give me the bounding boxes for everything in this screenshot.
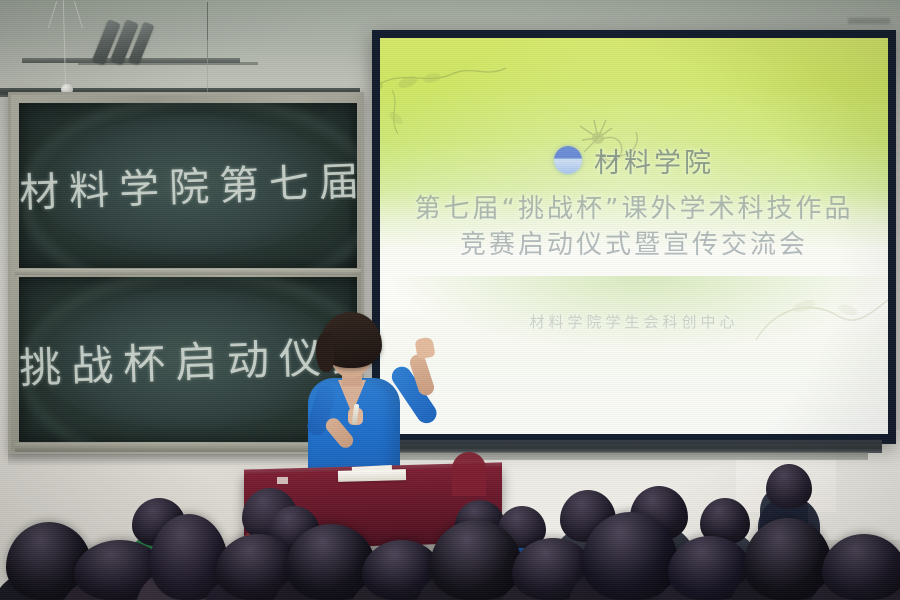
audience-clothing [452,452,486,496]
slide-title-line-2: 竞赛启动仪式暨宣传交流会 [380,228,888,263]
blackboard-divider [15,269,361,275]
lecture-hall-photo: 材料学院第七届 挑战杯启动仪式 [0,0,900,600]
audience-member-head [822,534,900,600]
blackboard-text-line-1: 材料学院第七届 [19,149,357,219]
podium-papers [338,469,406,482]
slide-bottom-fade [380,315,888,434]
presenter-hand-right [414,337,435,360]
projected-slide: 材料学院 第七届“挑战杯”课外学术科技作品 竞赛启动仪式暨宣传交流会 材料学院学… [380,38,888,434]
podium-tag [277,477,288,484]
slide-subtitle: 材料学院学生会科创中心 [380,311,888,332]
slide-org-name: 材料学院 [594,141,714,180]
slide-header: 材料学院 [380,141,888,180]
wall-mark-above-screen [848,18,890,24]
cloud-circle-logo-icon [554,146,582,174]
blackboard-panel-top: 材料学院第七届 [19,103,357,268]
audience-member-head [766,464,812,508]
presenter-hair-side [316,332,334,372]
slide-title-line-1: 第七届“挑战杯”课外学术科技作品 [380,192,888,227]
